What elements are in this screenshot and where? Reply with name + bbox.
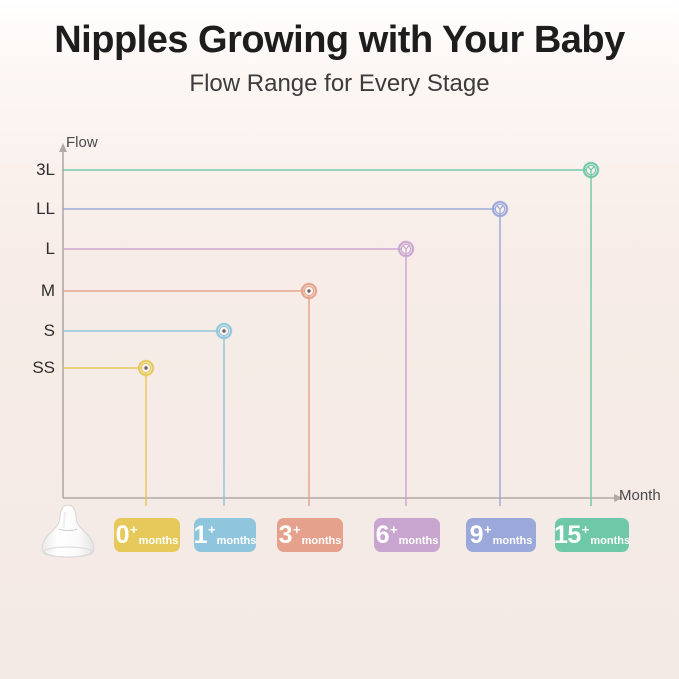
month-drop-lines xyxy=(146,170,591,506)
y-axis-tick-m: M xyxy=(0,281,55,301)
y-axis-tick-3l: 3L xyxy=(0,160,55,180)
month-badge-unit: months xyxy=(493,536,533,547)
flow-level-lines xyxy=(63,170,591,368)
y-axis-tick-l: L xyxy=(0,239,55,259)
month-badge-number: 9 xyxy=(470,523,483,548)
month-badge-plus: + xyxy=(484,523,492,536)
month-badge-plus: + xyxy=(390,523,398,536)
month-badge-number: 3 xyxy=(279,523,292,548)
baby-bottle-nipple-icon xyxy=(36,502,100,562)
month-badge-number: 6 xyxy=(376,523,389,548)
chart-page: Nipples Growing with Your Baby Flow Rang… xyxy=(0,0,679,679)
round-hole-icon xyxy=(307,289,310,292)
chart-axes xyxy=(59,143,623,502)
data-point-marker[interactable] xyxy=(301,283,318,300)
month-badge-9[interactable]: 9+months xyxy=(466,518,536,552)
month-badge-unit: months xyxy=(302,536,342,547)
month-badge-15[interactable]: 15+months xyxy=(555,518,629,552)
month-badge-plus: + xyxy=(293,523,301,536)
month-badge-1[interactable]: 1+months xyxy=(194,518,256,552)
y-axis-tick-ss: SS xyxy=(0,358,55,378)
round-hole-icon xyxy=(222,329,225,332)
data-point-marker[interactable] xyxy=(583,162,600,179)
data-point-marker[interactable] xyxy=(492,201,509,218)
month-badge-0[interactable]: 0+months xyxy=(114,518,180,552)
month-badge-unit: months xyxy=(590,536,630,547)
y-axis-tick-s: S xyxy=(0,321,55,341)
month-badge-unit: months xyxy=(139,536,179,547)
y-axis-tick-ll: LL xyxy=(0,199,55,219)
month-badge-plus: + xyxy=(582,523,590,536)
month-badge-unit: months xyxy=(217,536,257,547)
round-hole-icon xyxy=(144,366,147,369)
month-badge-6[interactable]: 6+months xyxy=(374,518,440,552)
x-axis-title: Month xyxy=(619,487,661,504)
data-point-marker[interactable] xyxy=(138,360,155,377)
month-badge-number: 0 xyxy=(116,523,129,548)
month-badge-unit: months xyxy=(399,536,439,547)
y-axis-title: Flow xyxy=(66,134,98,151)
month-badge-number: 15 xyxy=(554,523,581,548)
data-point-marker[interactable] xyxy=(216,323,233,340)
data-point-marker[interactable] xyxy=(398,241,415,258)
month-badge-3[interactable]: 3+months xyxy=(277,518,343,552)
month-badge-number: 1 xyxy=(194,523,207,548)
month-badge-plus: + xyxy=(208,523,216,536)
month-badge-plus: + xyxy=(130,523,138,536)
flow-chart xyxy=(0,0,679,679)
data-point-markers xyxy=(138,162,600,377)
